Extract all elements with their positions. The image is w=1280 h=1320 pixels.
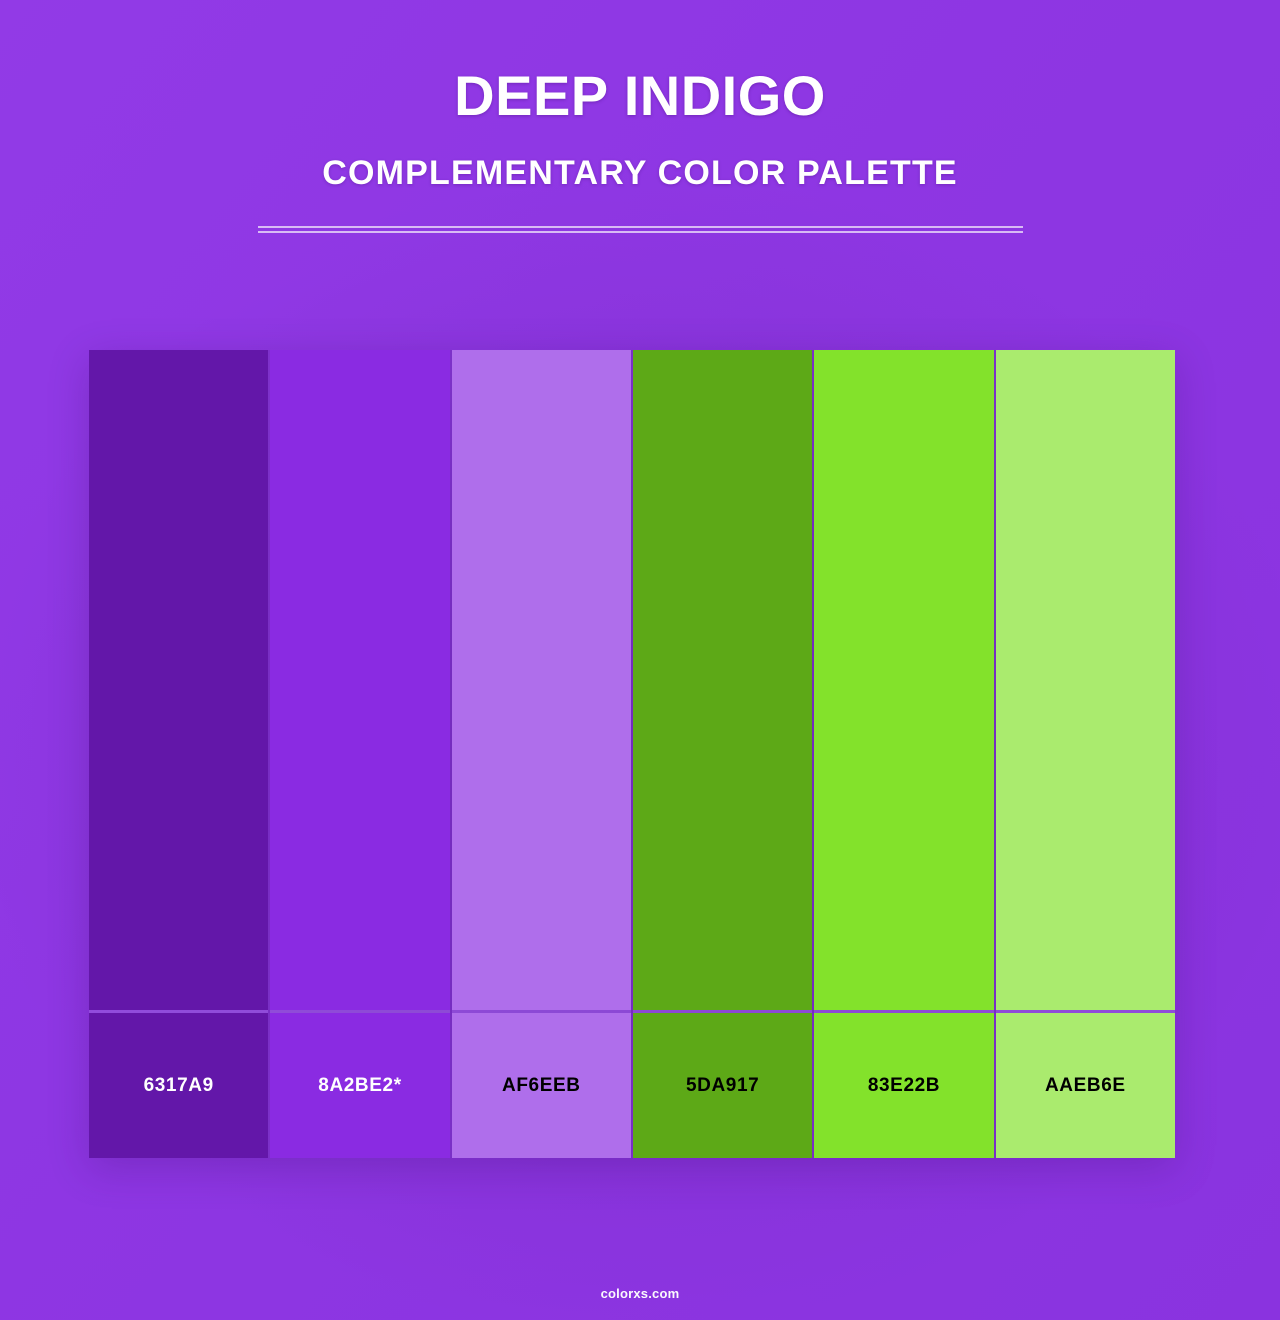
divider-line-bottom [258, 231, 1023, 233]
swatch-column[interactable]: 8A2BE2* [268, 350, 449, 1158]
header: DEEP INDIGO COMPLEMENTARY COLOR PALETTE [0, 0, 1280, 233]
swatch-hex-label: 83E22B [868, 1075, 940, 1097]
swatch-color-chip[interactable] [996, 350, 1175, 1010]
swatch-color-chip[interactable] [814, 350, 993, 1010]
swatch-column[interactable]: 83E22B [812, 350, 993, 1158]
header-divider [258, 226, 1023, 233]
swatch-column[interactable]: 5DA917 [631, 350, 812, 1158]
swatch-hex-label: 6317A9 [144, 1075, 214, 1097]
swatch-hex-label: AAEB6E [1045, 1075, 1126, 1097]
swatch-label-cell[interactable]: 83E22B [814, 1013, 993, 1158]
swatch-color-chip[interactable] [270, 350, 449, 1010]
brand-watermark: colorxs.com [601, 1286, 680, 1301]
swatch-column[interactable]: AAEB6E [994, 350, 1175, 1158]
swatch-label-cell[interactable]: 6317A9 [89, 1013, 268, 1158]
swatch-hex-label: 8A2BE2* [318, 1075, 401, 1097]
swatch-label-cell[interactable]: 5DA917 [633, 1013, 812, 1158]
color-palette-strip: 6317A98A2BE2*AF6EEB5DA91783E22BAAEB6E [89, 350, 1175, 1158]
swatch-label-cell[interactable]: 8A2BE2* [270, 1013, 449, 1158]
swatch-hex-label: 5DA917 [686, 1075, 759, 1097]
palette-page: DEEP INDIGO COMPLEMENTARY COLOR PALETTE … [0, 0, 1280, 1320]
swatch-column[interactable]: 6317A9 [89, 350, 268, 1158]
swatch-label-cell[interactable]: AAEB6E [996, 1013, 1175, 1158]
divider-line-top [258, 226, 1023, 228]
swatch-color-chip[interactable] [89, 350, 268, 1010]
swatch-color-chip[interactable] [452, 350, 631, 1010]
swatch-label-cell[interactable]: AF6EEB [452, 1013, 631, 1158]
footer: colorxs.com [0, 1285, 1280, 1303]
swatch-column[interactable]: AF6EEB [450, 350, 631, 1158]
swatch-hex-label: AF6EEB [502, 1075, 581, 1097]
page-subtitle: COMPLEMENTARY COLOR PALETTE [0, 124, 1280, 190]
swatch-color-chip[interactable] [633, 350, 812, 1010]
page-title: DEEP INDIGO [0, 0, 1280, 124]
